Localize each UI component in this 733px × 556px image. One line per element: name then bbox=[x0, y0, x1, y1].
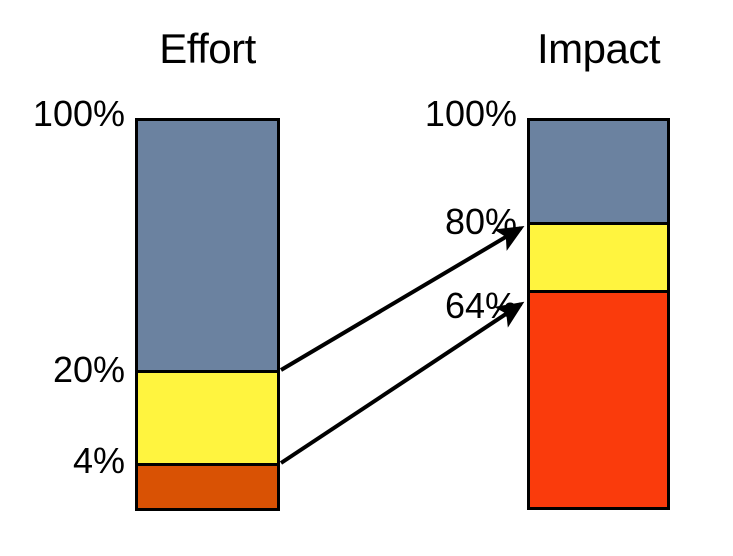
impact-segment-middle bbox=[530, 222, 667, 290]
impact-segment-top bbox=[530, 121, 667, 222]
connector-arrow-4-to-64 bbox=[281, 304, 521, 463]
effort-segment-top bbox=[138, 121, 277, 370]
effort-label-20-percent: 20% bbox=[5, 352, 125, 388]
impact-label-100-percent: 100% bbox=[397, 96, 517, 132]
impact-stacked-bar bbox=[527, 118, 670, 510]
chart-canvas: Effort Impact 100% 20% 4% 100% 80% 64% bbox=[0, 0, 733, 556]
effort-label-100-percent: 100% bbox=[5, 96, 125, 132]
column-title-effort: Effort bbox=[135, 28, 280, 70]
impact-segment-bottom bbox=[530, 290, 667, 507]
effort-label-4-percent: 4% bbox=[5, 443, 125, 479]
impact-label-80-percent: 80% bbox=[397, 204, 517, 240]
column-title-impact: Impact bbox=[527, 28, 670, 70]
effort-segment-middle bbox=[138, 370, 277, 463]
effort-stacked-bar bbox=[135, 118, 280, 511]
effort-segment-bottom bbox=[138, 463, 277, 508]
impact-label-64-percent: 64% bbox=[397, 288, 517, 324]
